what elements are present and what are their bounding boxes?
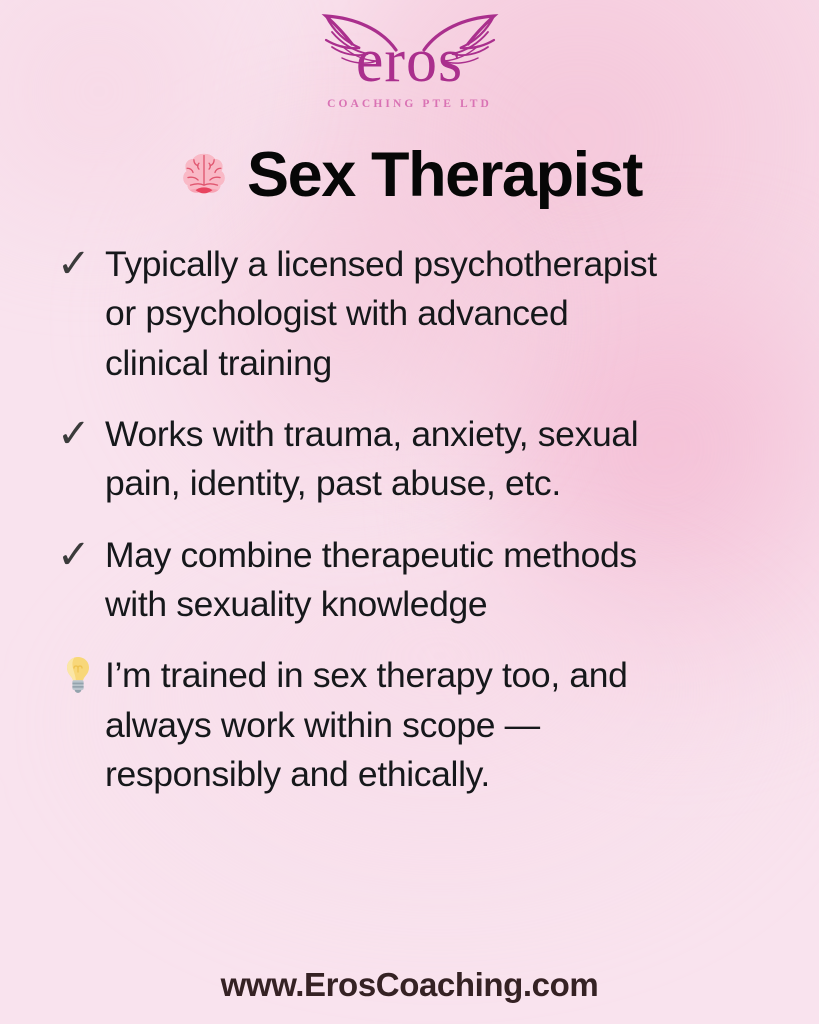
light-bulb-glyph (63, 655, 93, 695)
list-item-text: I’m trained in sex therapy too, and alwa… (105, 651, 628, 799)
social-post-card: eros COACHING PTE LTD (0, 0, 819, 1024)
list-item-text: Works with trauma, anxiety, sexual pain,… (105, 410, 638, 509)
list-item-line: May combine therapeutic methods (105, 531, 637, 580)
list-item-line: responsibly and ethically. (105, 750, 628, 799)
bullet-list: ✓ Typically a licensed psychotherapist o… (57, 240, 779, 799)
list-item-line: Typically a licensed psychotherapist (105, 240, 657, 289)
list-item-line: pain, identity, past abuse, etc. (105, 459, 638, 508)
check-mark-icon: ✓ (57, 240, 105, 284)
check-mark-icon: ✓ (57, 531, 105, 575)
logo-wordmark: eros (290, 30, 530, 92)
check-mark-icon: ✓ (57, 410, 105, 454)
list-item-line: I’m trained in sex therapy too, and (105, 651, 628, 700)
website-url[interactable]: www.ErosCoaching.com (221, 966, 599, 1003)
list-item-text: May combine therapeutic methods with sex… (105, 531, 637, 630)
list-item: ✓ May combine therapeutic methods with s… (57, 531, 779, 630)
check-glyph: ✓ (57, 244, 91, 284)
light-bulb-icon (57, 651, 105, 695)
logo-tagline: COACHING PTE LTD (290, 98, 530, 110)
list-item-text: Typically a licensed psychotherapist or … (105, 240, 657, 388)
brain-icon (177, 148, 231, 202)
list-item: I’m trained in sex therapy too, and alwa… (57, 651, 779, 799)
check-glyph: ✓ (57, 414, 91, 454)
list-item-line: always work within scope — (105, 701, 628, 750)
check-glyph: ✓ (57, 535, 91, 575)
list-item: ✓ Works with trauma, anxiety, sexual pai… (57, 410, 779, 509)
list-item-line: Works with trauma, anxiety, sexual (105, 410, 638, 459)
brand-logo: eros COACHING PTE LTD (0, 8, 819, 120)
list-item-line: clinical training (105, 339, 657, 388)
logo-mark: eros COACHING PTE LTD (290, 10, 530, 118)
page-title-text: Sex Therapist (247, 142, 642, 208)
page-title: Sex Therapist (0, 142, 819, 208)
list-item-line: or psychologist with advanced (105, 289, 657, 338)
footer: www.ErosCoaching.com (0, 966, 819, 1004)
list-item: ✓ Typically a licensed psychotherapist o… (57, 240, 779, 388)
list-item-line: with sexuality knowledge (105, 580, 637, 629)
